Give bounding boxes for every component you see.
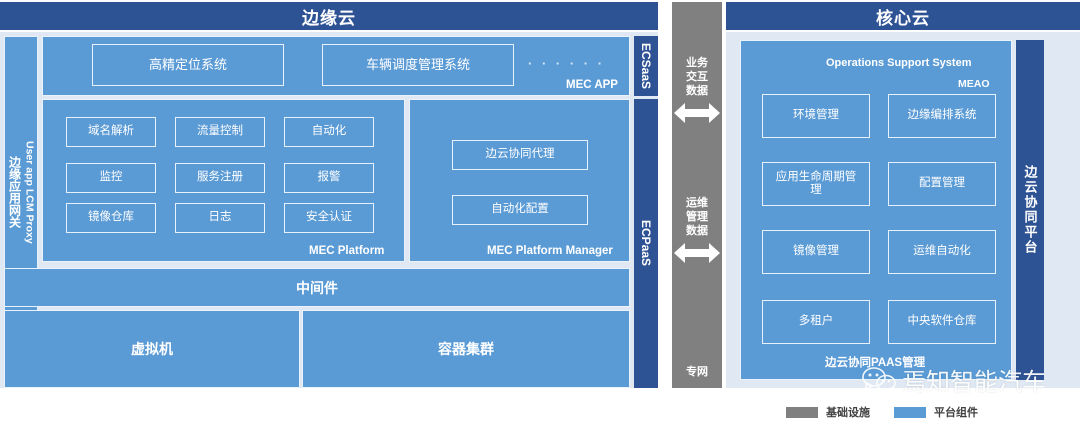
core-cloud-box-2[interactable]: 应用生命周期管理 [762,162,870,206]
mec-platform-label: MEC Platform [309,245,384,257]
gateway-label-en: User app LCM Proxy [24,141,36,244]
core-cloud-box-0[interactable]: 环境管理 [762,94,870,138]
ecsaas-strip: ECSaaS [634,36,658,96]
watermark: 焉知智能汽车 [862,362,1046,397]
business-data-label: 业务 交互 数据 [675,57,719,98]
private-network-label: 专网 [675,366,719,380]
mec-platform-manager-area [409,99,630,262]
core-cloud-box-6[interactable]: 多租户 [762,300,870,344]
mec-platform-box-1[interactable]: 流量控制 [175,117,265,147]
mec-platform-box-8[interactable]: 安全认证 [284,203,374,233]
watermark-text: 焉知智能汽车 [902,362,1046,397]
ops-data-label: 运维 管理 数据 [675,197,719,238]
mec-platform-manager-box-0[interactable]: 边云协同代理 [452,140,588,170]
core-cloud-box-7[interactable]: 中央软件仓库 [888,300,996,344]
mec-app-box-1[interactable]: 车辆调度管理系统 [322,44,514,86]
core-cloud-box-5[interactable]: 运维自动化 [888,230,996,274]
mec-platform-manager-box-1[interactable]: 自动化配置 [452,195,588,225]
edge-cloud-collab-platform-strip: 边云协同平台 [1016,40,1044,380]
core-cloud-box-4[interactable]: 镜像管理 [762,230,870,274]
edge-cloud-title: 边缘云 [0,2,658,30]
mec-app-label: MEC APP [566,79,618,91]
oss-title: Operations Support System [826,57,971,69]
mec-platform-box-0[interactable]: 域名解析 [66,117,156,147]
mec-platform-box-3[interactable]: 监控 [66,163,156,193]
legend-label-platform: 平台组件 [934,404,978,420]
mec-platform-box-5[interactable]: 报警 [284,163,374,193]
business-data-line-2: 数据 [675,85,719,99]
legend-swatch-infrastructure [786,407,818,418]
mec-platform-box-2[interactable]: 自动化 [284,117,374,147]
ecpaas-strip: ECPaaS [634,99,658,388]
business-data-arrow-icon [674,100,720,126]
mec-platform-box-6[interactable]: 镜像仓库 [66,203,156,233]
wechat-icon [862,367,896,393]
mec-app-ellipsis: · · · · · · [528,56,605,71]
ops-data-line-0: 运维 [675,197,719,211]
collab-platform-label: 边云协同平台 [1021,165,1040,255]
architecture-diagram: 边缘云 边缘应用网关 User app LCM Proxy 高精定位系统 车辆调… [0,0,1080,424]
infra-row-container[interactable]: 容器集群 [302,310,630,388]
ops-data-arrow-icon [674,240,720,266]
meao-label: MEAO [958,78,990,90]
ecsaas-label: ECSaaS [639,43,653,89]
infra-row-vm[interactable]: 虚拟机 [4,310,300,388]
ecpaas-label: ECPaaS [639,220,653,266]
core-cloud-box-1[interactable]: 边缘编排系统 [888,94,996,138]
business-data-line-1: 交互 [675,71,719,85]
mec-platform-box-4[interactable]: 服务注册 [175,163,265,193]
core-cloud-title: 核心云 [726,2,1080,30]
business-data-line-0: 业务 [675,57,719,71]
ops-data-line-2: 数据 [675,225,719,239]
legend-item-platform: 平台组件 [894,404,978,420]
ops-data-line-1: 管理 [675,211,719,225]
gateway-label-cn: 边缘应用网关 [7,156,24,228]
mec-platform-manager-label: MEC Platform Manager [487,245,613,257]
legend-item-infrastructure: 基础设施 [786,404,870,420]
mec-app-box-0[interactable]: 高精定位系统 [92,44,284,86]
middleware-row[interactable]: 中间件 [4,268,630,307]
legend-label-infrastructure: 基础设施 [826,404,870,420]
mec-platform-box-7[interactable]: 日志 [175,203,265,233]
core-cloud-box-3[interactable]: 配置管理 [888,162,996,206]
legend-swatch-platform [894,407,926,418]
